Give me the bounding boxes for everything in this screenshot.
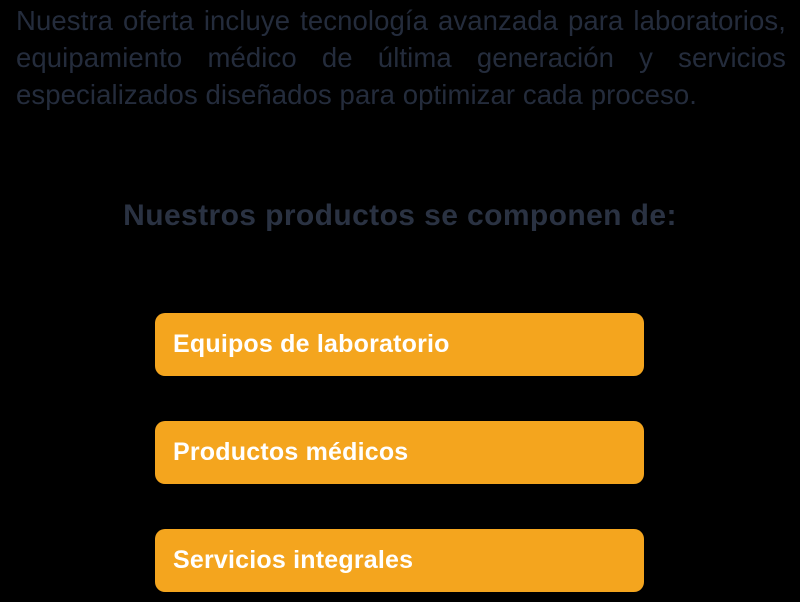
product-button-equipos-de-laboratorio[interactable]: Equipos de laboratorio (155, 313, 644, 376)
product-button-servicios-integrales[interactable]: Servicios integrales (155, 529, 644, 592)
slide-root: Nuestra oferta incluye tecnología avanza… (0, 0, 800, 602)
product-button-productos-medicos[interactable]: Productos médicos (155, 421, 644, 484)
product-button-label: Equipos de laboratorio (173, 332, 450, 357)
product-button-stack: Equipos de laboratorio Productos médicos… (155, 313, 644, 592)
intro-paragraph: Nuestra oferta incluye tecnología avanza… (16, 2, 786, 113)
product-button-label: Servicios integrales (173, 548, 413, 573)
product-button-label: Productos médicos (173, 440, 408, 465)
section-heading: Nuestros productos se componen de: (0, 194, 800, 238)
